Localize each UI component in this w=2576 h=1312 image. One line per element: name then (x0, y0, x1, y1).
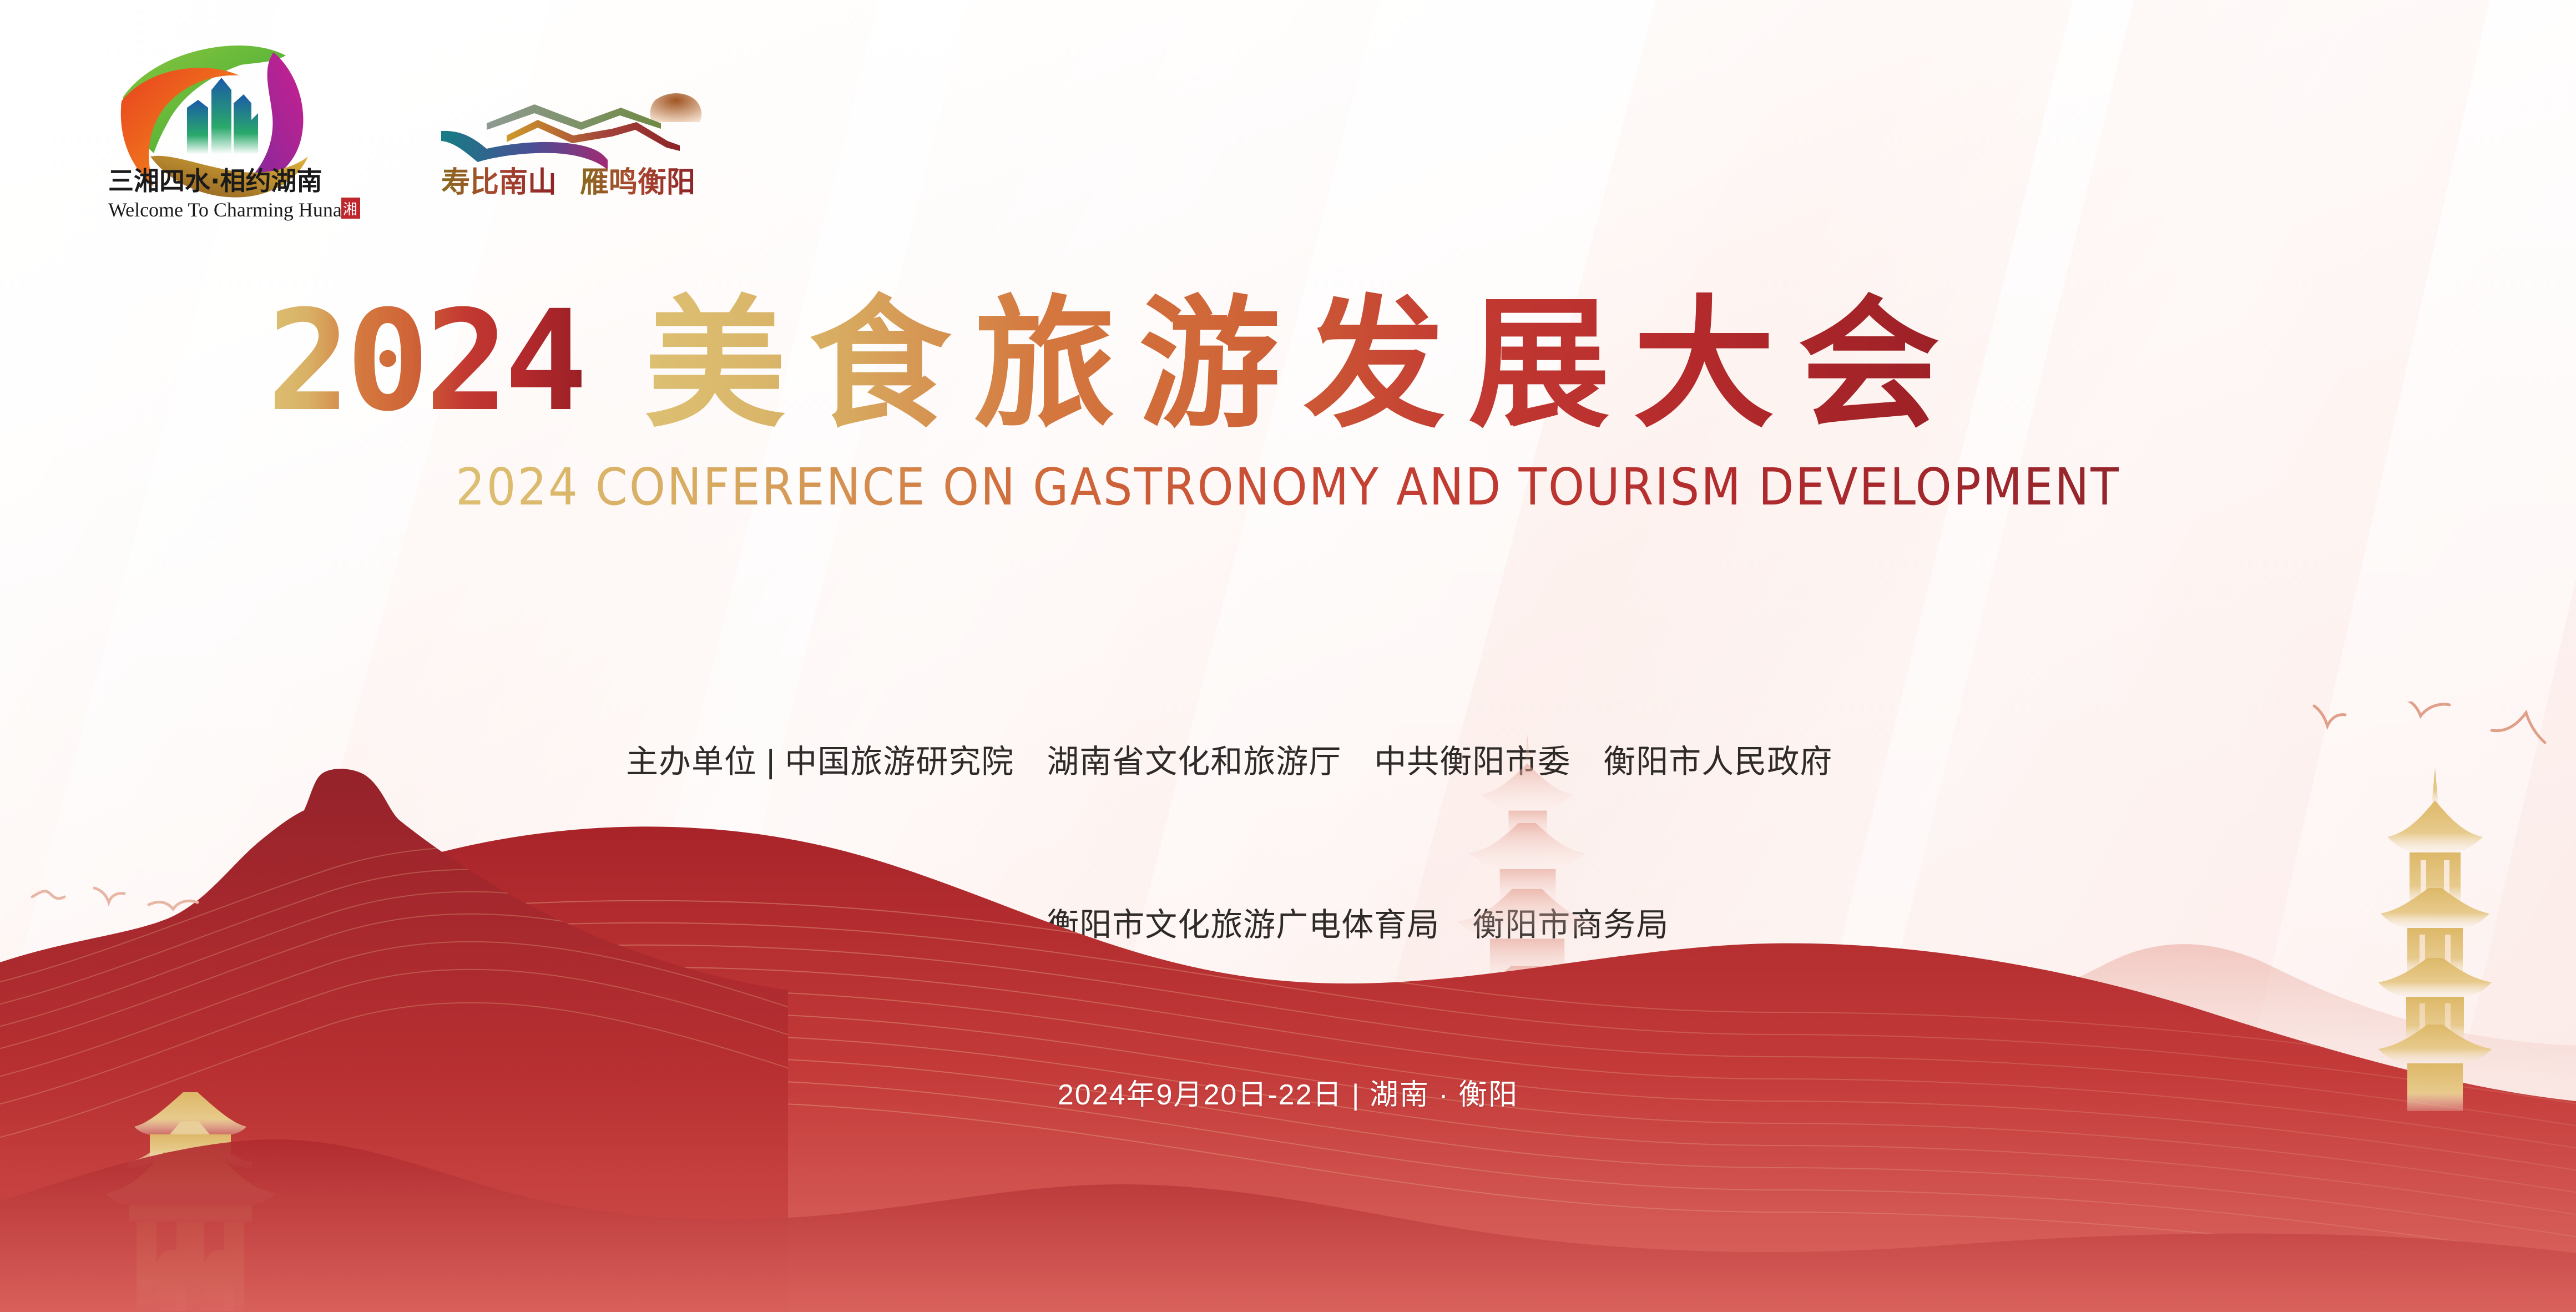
birds-left (32, 888, 198, 909)
bird-icon (2314, 706, 2345, 726)
hunan-slogan-en: Welcome To Charming Hunan (108, 199, 352, 221)
bird-icon (94, 888, 124, 902)
conference-banner: 三湘四水·相约湖南 Welcome To Charming Hunan 湘 (0, 0, 2576, 1312)
hunan-seal-text: 湘 (343, 201, 357, 218)
birds-right (2265, 702, 2545, 743)
bird-icon (32, 891, 64, 899)
hunan-logo-mark: 三湘四水·相约湖南 Welcome To Charming Hunan 湘 (103, 39, 363, 222)
hengyang-tourism-logo: 寿比南山 雁鸣衡阳 (429, 71, 729, 201)
hengyang-slogan-right: 雁鸣衡阳 (580, 166, 695, 199)
hengyang-logo-mark: 寿比南山 雁鸣衡阳 (429, 71, 729, 199)
pagoda-tower-icon (2378, 768, 2492, 1111)
hunan-tourism-logo: 三湘四水·相约湖南 Welcome To Charming Hunan 湘 (103, 39, 363, 225)
title-main-cn: 美食旅游发展大会 (644, 282, 1963, 447)
title-year: 2024 (267, 280, 583, 442)
main-title: 2024 美食旅游发展大会 (267, 280, 2309, 447)
title-subtitle: 2024 CONFERENCE ON GASTRONOMY AND TOURIS… (267, 459, 2309, 520)
title-block: 2024 美食旅游发展大会 2024 CONFERENCE ON GASTRON… (0, 280, 2576, 520)
bird-icon (2492, 713, 2545, 743)
mountain-landscape (0, 702, 2576, 1312)
subtitle-en: 2024 CONFERENCE ON GASTRONOMY AND TOURIS… (456, 459, 2120, 517)
event-dateline: 2024年9月20日-22日 | 湖南 · 衡阳 (0, 1071, 2576, 1113)
bird-icon (2402, 702, 2449, 716)
logo-row: 三湘四水·相约湖南 Welcome To Charming Hunan 湘 (103, 39, 729, 225)
hunan-slogan-cn: 三湘四水·相约湖南 (108, 166, 322, 196)
hengyang-slogan-left: 寿比南山 (441, 166, 557, 199)
